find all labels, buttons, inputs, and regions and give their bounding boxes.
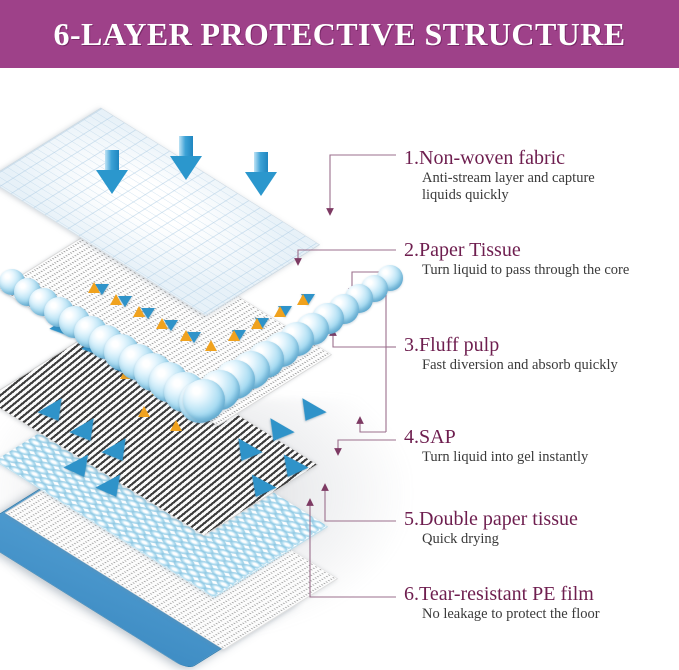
label-item-3: 3.Fluff pulp Fast diversion and absorb q… bbox=[404, 333, 676, 374]
absorption-up-arrow bbox=[110, 294, 122, 305]
infographic-page: 6-LAYER PROTECTIVE STRUCTURE bbox=[0, 0, 679, 646]
label-desc-1: Anti-stream layer and capture liquids qu… bbox=[404, 170, 637, 204]
label-item-1: 1.Non-woven fabric Anti-stream layer and… bbox=[404, 146, 676, 204]
header-banner: 6-LAYER PROTECTIVE STRUCTURE bbox=[0, 0, 679, 68]
label-title-3: 3.Fluff pulp bbox=[404, 333, 676, 357]
page-title: 6-LAYER PROTECTIVE STRUCTURE bbox=[0, 0, 679, 68]
label-item-4: 4.SAP Turn liquid into gel instantly bbox=[404, 425, 676, 466]
label-column: 1.Non-woven fabric Anti-stream layer and… bbox=[404, 68, 679, 646]
fluff-pulp-sphere bbox=[183, 379, 225, 421]
label-item-2: 2.Paper Tissue Turn liquid to pass throu… bbox=[404, 238, 676, 279]
label-desc-2: Turn liquid to pass through the core bbox=[404, 262, 637, 279]
absorption-up-arrow bbox=[170, 420, 182, 431]
absorption-up-arrow bbox=[274, 306, 286, 317]
absorption-up-arrow bbox=[251, 318, 263, 329]
label-title-2: 2.Paper Tissue bbox=[404, 238, 676, 262]
label-title-5: 5.Double paper tissue bbox=[404, 507, 676, 531]
label-item-5: 5.Double paper tissue Quick drying bbox=[404, 507, 676, 548]
absorption-up-arrow bbox=[138, 406, 150, 417]
label-title-1: 1.Non-woven fabric bbox=[404, 146, 676, 170]
label-desc-6: No leakage to protect the floor bbox=[404, 606, 637, 623]
label-item-6: 6.Tear-resistant PE film No leakage to p… bbox=[404, 582, 676, 623]
label-desc-3: Fast diversion and absorb quickly bbox=[404, 357, 637, 374]
absorption-up-arrow bbox=[180, 330, 192, 341]
label-desc-5: Quick drying bbox=[404, 531, 637, 548]
label-title-4: 4.SAP bbox=[404, 425, 676, 449]
absorption-up-arrow bbox=[297, 294, 309, 305]
absorption-up-arrow bbox=[133, 306, 145, 317]
absorption-up-arrow bbox=[156, 318, 168, 329]
absorption-up-arrow bbox=[228, 330, 240, 341]
absorption-up-arrow bbox=[88, 282, 100, 293]
absorption-up-arrow bbox=[205, 340, 217, 351]
label-title-6: 6.Tear-resistant PE film bbox=[404, 582, 676, 606]
label-desc-4: Turn liquid into gel instantly bbox=[404, 449, 637, 466]
